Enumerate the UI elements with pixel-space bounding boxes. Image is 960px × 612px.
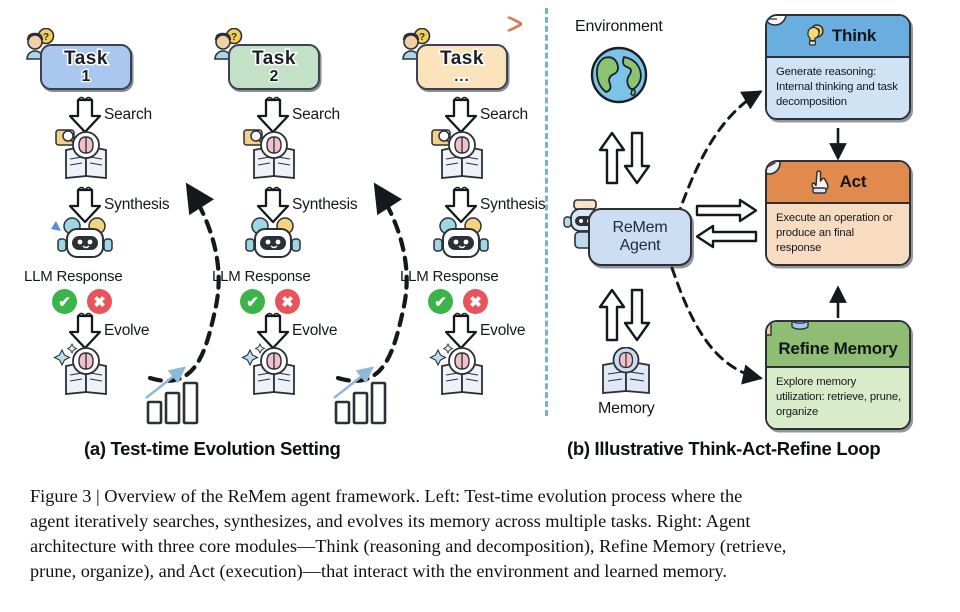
caption-line-1: Figure 3 | Overview of the ReMem agent f…	[30, 484, 932, 509]
llm-response-label-3: LLM Response	[400, 268, 499, 285]
evolved-memory-icon-1	[52, 340, 122, 398]
module-card-act: Act Execute an operation or produce an f…	[765, 160, 911, 266]
task-title-2: Task	[252, 49, 296, 68]
refine-card-title: Refine Memory	[778, 339, 897, 359]
task-number-3: ...	[454, 69, 470, 85]
clipboard-hand-icon	[765, 320, 779, 336]
globe-icon	[588, 44, 650, 106]
llm-response-label-2: LLM Response	[212, 268, 311, 285]
module-card-think: Think Generate reasoning: Internal think…	[765, 14, 911, 120]
memory-book-icon-2	[240, 126, 310, 182]
cursor-hand-icon	[810, 169, 834, 195]
memory-icon	[595, 347, 657, 399]
step-label-search-3: Search	[480, 106, 528, 124]
status-check-icon-1: ✔	[52, 289, 77, 314]
svg-text:?: ?	[419, 32, 425, 43]
llm-response-label-1: LLM Response	[24, 268, 123, 285]
lightbulb-gear-icon	[800, 23, 826, 49]
task-box-2: Task 2	[228, 44, 320, 90]
agent-label-line1: ReMem	[612, 219, 667, 237]
memory-book-icon-3	[428, 126, 498, 182]
step-label-synthesis-1: Synthesis	[104, 196, 169, 214]
status-cross-icon-1: ✖	[87, 289, 112, 314]
task-title-1: Task	[64, 49, 108, 68]
status-check-icon-3: ✔	[428, 289, 453, 314]
status-check-icon-2: ✔	[240, 289, 265, 314]
robot-icon-2	[236, 215, 312, 267]
refine-card-header: Refine Memory	[767, 322, 909, 368]
play-badge-icon	[765, 160, 782, 176]
refine-card-body: Explore memory utilization: retrieve, pr…	[767, 368, 909, 428]
memory-label: Memory	[598, 400, 655, 418]
think-card-body: Generate reasoning: Internal thinking an…	[767, 58, 909, 118]
panel-b-subtitle: (b) Illustrative Think-Act-Refine Loop	[567, 438, 880, 460]
robot-icon-3	[424, 215, 500, 267]
evolved-memory-icon-3	[428, 340, 498, 398]
status-cross-icon-2: ✖	[275, 289, 300, 314]
figure-illustration: ? Task 1 Search Synthesis LLM Re	[0, 0, 960, 470]
panel-a-subtitle: (a) Test-time Evolution Setting	[84, 438, 341, 460]
caption-line-2: agent iteratively searches, synthesizes,…	[30, 509, 932, 534]
evolved-memory-icon-2	[240, 340, 310, 398]
agent-label-line2: Agent	[620, 237, 661, 255]
step-label-evolve-3: Evolve	[480, 322, 525, 340]
svg-text:?: ?	[43, 32, 49, 43]
remem-agent-box: ReMem Agent	[588, 208, 692, 266]
caption-line-4: prune, organize), and Act (execution)—th…	[30, 559, 932, 584]
step-label-synthesis-2: Synthesis	[292, 196, 357, 214]
step-label-search-1: Search	[104, 106, 152, 124]
status-cross-icon-3: ✖	[463, 289, 488, 314]
task-box-3: Task ...	[416, 44, 508, 90]
think-card-header: Think	[767, 16, 909, 58]
step-label-evolve-2: Evolve	[292, 322, 337, 340]
task-title-3: Task	[440, 49, 484, 68]
step-label-search-2: Search	[292, 106, 340, 124]
step-label-evolve-1: Evolve	[104, 322, 149, 340]
robot-icon-1	[48, 215, 124, 267]
database-icon	[789, 320, 815, 335]
task-number-1: 1	[82, 69, 91, 86]
step-label-synthesis-3: Synthesis	[480, 196, 545, 214]
task-number-2: 2	[270, 69, 279, 86]
memory-book-icon-1	[52, 126, 122, 182]
svg-text:?: ?	[231, 32, 237, 43]
caption-line-3: architecture with three core modules—Thi…	[30, 534, 932, 559]
module-card-refine-memory: Refine Memory Explore memory utilization…	[765, 320, 911, 430]
speech-bubble-icon	[765, 14, 791, 30]
think-card-title: Think	[832, 26, 876, 46]
act-card-header: Act	[767, 162, 909, 204]
environment-label: Environment	[575, 18, 663, 36]
panel-divider	[545, 8, 548, 416]
act-card-title: Act	[840, 172, 867, 192]
task-box-1: Task 1	[40, 44, 132, 90]
act-card-body: Execute an operation or produce an final…	[767, 204, 909, 264]
figure-caption: Figure 3 | Overview of the ReMem agent f…	[30, 484, 932, 584]
